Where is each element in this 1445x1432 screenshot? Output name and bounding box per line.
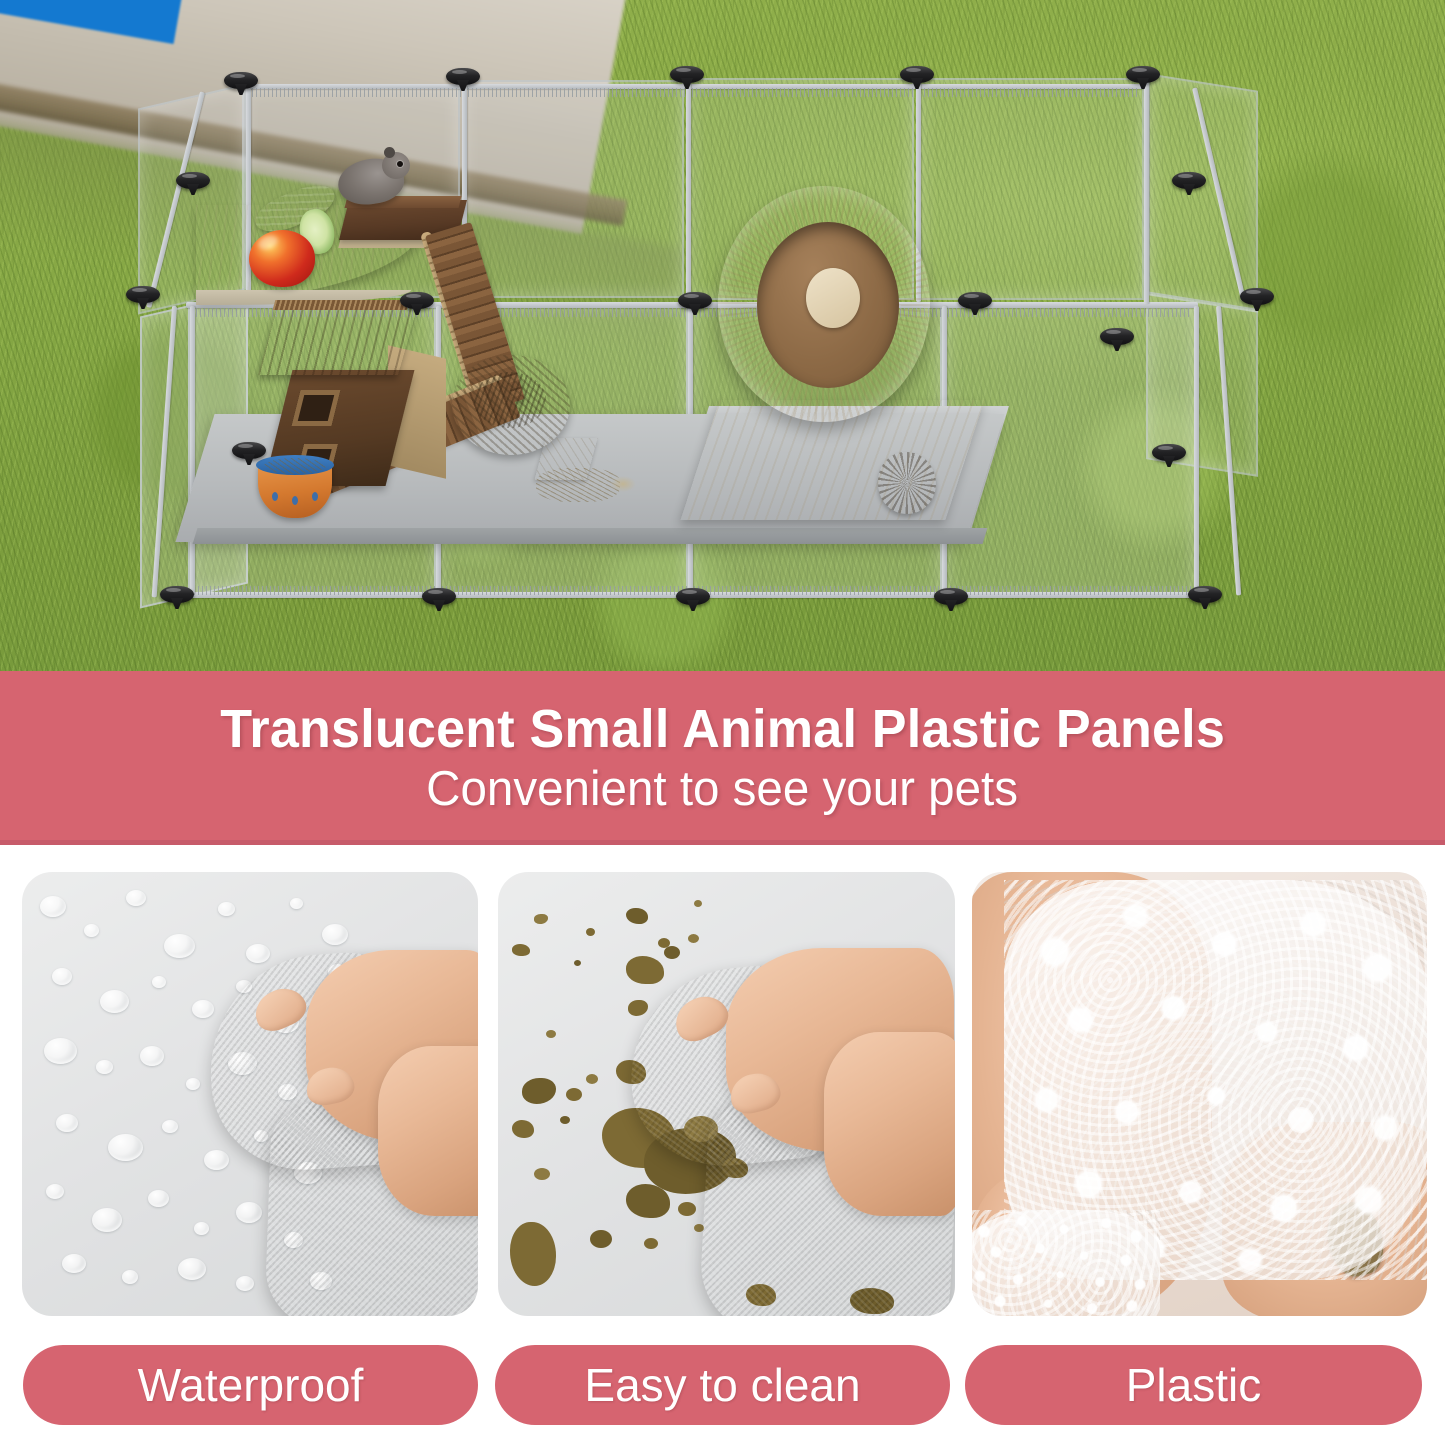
panel-connector-icon bbox=[1152, 444, 1186, 466]
water-droplet bbox=[204, 1150, 229, 1170]
mud-speck bbox=[512, 944, 530, 956]
water-droplet bbox=[92, 1208, 122, 1232]
hero-product-photo bbox=[0, 0, 1445, 671]
feature-photo-waterproof bbox=[22, 872, 478, 1316]
food-bowl-motif-3 bbox=[312, 492, 318, 501]
forearm bbox=[378, 1046, 478, 1216]
mud-speck bbox=[560, 1116, 570, 1124]
water-droplet bbox=[218, 902, 235, 916]
water-droplet bbox=[236, 1276, 254, 1291]
panel-connector-icon bbox=[176, 172, 210, 194]
wooden-house-roof bbox=[258, 305, 418, 375]
banner-bottom-edge bbox=[0, 840, 1445, 845]
mud-speck bbox=[586, 1074, 598, 1084]
mud-splat bbox=[626, 1184, 670, 1218]
banner-subtitle: Convenient to see your pets bbox=[427, 764, 1019, 815]
food-bowl-motif-1 bbox=[272, 492, 278, 501]
mud-speck bbox=[512, 1120, 534, 1138]
water-droplet bbox=[164, 934, 195, 958]
panel-connector-icon bbox=[1240, 288, 1274, 310]
water-droplet bbox=[122, 1270, 138, 1284]
water-droplet bbox=[46, 1184, 64, 1199]
feature-label-waterproof[interactable]: Waterproof bbox=[23, 1345, 478, 1425]
panel-connector-icon bbox=[1188, 586, 1222, 608]
panel-connector-icon bbox=[934, 588, 968, 610]
mud-speck bbox=[566, 1088, 582, 1101]
frame-post-f5 bbox=[1194, 306, 1199, 594]
water-droplet bbox=[148, 1190, 169, 1207]
water-droplet bbox=[40, 896, 66, 917]
feature-label-plastic[interactable]: Plastic bbox=[965, 1345, 1422, 1425]
water-droplet bbox=[44, 1038, 77, 1064]
panel-connector-icon bbox=[446, 68, 480, 90]
playpen-assembly bbox=[0, 0, 1445, 671]
mud-speck bbox=[694, 900, 702, 907]
plastic-pellets-spill bbox=[972, 1210, 1160, 1316]
water-droplet bbox=[100, 990, 129, 1013]
forearm bbox=[824, 1032, 955, 1216]
water-droplet bbox=[290, 898, 303, 909]
mud-speck bbox=[574, 960, 581, 966]
feature-photo-easy-to-clean bbox=[498, 872, 955, 1316]
water-droplet bbox=[192, 1000, 214, 1018]
panel-connector-icon bbox=[678, 292, 712, 314]
water-droplet bbox=[52, 968, 72, 985]
water-droplet bbox=[246, 944, 270, 963]
water-droplet bbox=[186, 1078, 200, 1090]
panel-connector-icon bbox=[676, 588, 710, 610]
feature-label-text: Waterproof bbox=[138, 1362, 364, 1408]
water-droplet bbox=[322, 924, 348, 945]
water-droplet bbox=[96, 1060, 113, 1074]
water-droplet bbox=[84, 924, 99, 937]
wooden-house-ridge bbox=[273, 300, 410, 310]
pellet-texture bbox=[972, 1210, 1160, 1316]
water-droplet bbox=[152, 976, 166, 988]
mud-speck bbox=[678, 1202, 696, 1216]
water-droplet bbox=[236, 1202, 262, 1223]
panel-connector-icon bbox=[670, 66, 704, 88]
feature-label-text: Plastic bbox=[1126, 1362, 1261, 1408]
headline-banner: Translucent Small Animal Plastic Panels … bbox=[0, 671, 1445, 845]
panel-connector-icon bbox=[900, 66, 934, 88]
seed-scatter-small bbox=[610, 476, 636, 492]
hamster-ear bbox=[384, 147, 395, 158]
mud-speck bbox=[688, 934, 699, 943]
frame-post-f1 bbox=[190, 306, 195, 594]
water-droplet bbox=[62, 1254, 86, 1273]
feature-label-easy-to-clean[interactable]: Easy to clean bbox=[495, 1345, 950, 1425]
water-droplet bbox=[108, 1134, 143, 1161]
panel-connector-icon bbox=[400, 292, 434, 314]
panel-connector-icon bbox=[958, 292, 992, 314]
feature-photo-plastic bbox=[972, 872, 1427, 1316]
panel-connector-icon bbox=[1126, 66, 1160, 88]
water-droplet bbox=[140, 1046, 164, 1066]
water-droplet bbox=[178, 1258, 206, 1280]
water-droplet bbox=[194, 1222, 209, 1235]
mud-splat bbox=[510, 1222, 556, 1286]
mud-speck bbox=[590, 1230, 612, 1248]
water-droplet bbox=[56, 1114, 78, 1132]
frame-post-b5 bbox=[1144, 80, 1149, 304]
mud-speck bbox=[644, 1238, 658, 1249]
panel-connector-icon bbox=[422, 588, 456, 610]
food-bowl-motif-2 bbox=[292, 496, 298, 505]
apple bbox=[249, 230, 315, 287]
panel-connector-icon bbox=[232, 442, 266, 464]
food-bowl-seeds bbox=[264, 458, 326, 474]
water-droplet bbox=[162, 1120, 178, 1133]
pine-cone-chew bbox=[878, 452, 936, 514]
mud-splat bbox=[626, 956, 664, 984]
banner-title: Translucent Small Animal Plastic Panels bbox=[220, 701, 1225, 758]
frame-ridge-top-back bbox=[248, 88, 1138, 97]
panel-connector-icon bbox=[126, 286, 160, 308]
panel-back-4 bbox=[918, 78, 1144, 300]
floor-tray-lip bbox=[193, 528, 988, 544]
mud-speck bbox=[664, 946, 680, 959]
mud-speck bbox=[626, 908, 648, 924]
seed-scatter bbox=[536, 468, 620, 502]
hamster-eye bbox=[397, 161, 403, 167]
panel-connector-icon bbox=[1100, 328, 1134, 350]
exercise-wheel-hub bbox=[806, 268, 860, 328]
mud-speck bbox=[534, 1168, 550, 1180]
panel-connector-icon bbox=[224, 72, 258, 94]
feature-label-text: Easy to clean bbox=[584, 1362, 860, 1408]
frame-post-b3 bbox=[686, 82, 691, 302]
mud-speck bbox=[546, 1030, 556, 1038]
panel-connector-icon bbox=[160, 586, 194, 608]
mud-speck bbox=[586, 928, 595, 936]
panel-back-2 bbox=[462, 80, 684, 298]
panel-connector-icon bbox=[1172, 172, 1206, 194]
water-droplet bbox=[126, 890, 146, 906]
headline-banner-inner: Translucent Small Animal Plastic Panels … bbox=[0, 671, 1445, 845]
hay-nest-inner bbox=[474, 372, 546, 428]
